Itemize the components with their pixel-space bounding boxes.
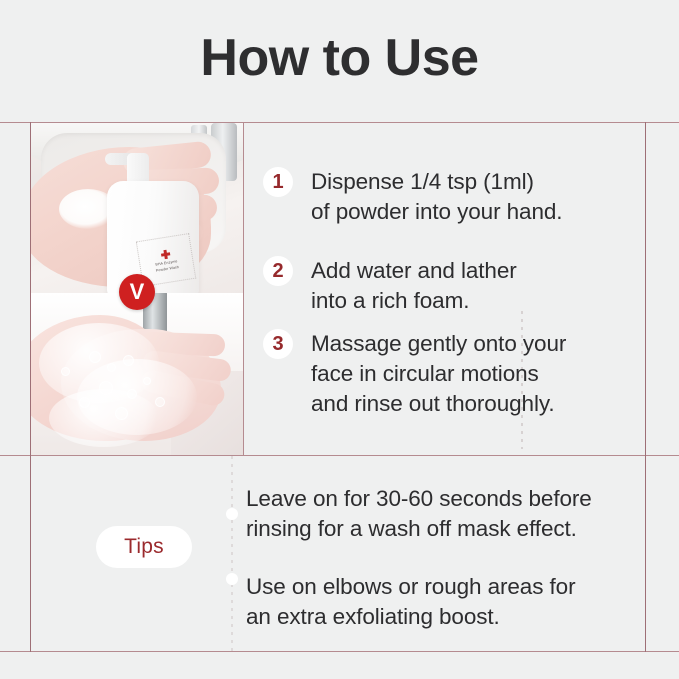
step-item-2: 2 Add water and lather into a rich foam.	[263, 256, 517, 316]
bubble-shape	[143, 377, 151, 385]
step-number-badge: 2	[263, 256, 293, 286]
foam-shape	[49, 389, 159, 447]
bubble-shape	[89, 351, 101, 363]
step-number-badge: 1	[263, 167, 293, 197]
page-title: How to Use	[200, 32, 478, 90]
bubble-shape	[61, 367, 70, 376]
step-item-1: 1 Dispense 1/4 tsp (1ml) of powder into …	[263, 167, 562, 227]
step-text: Add water and lather into a rich foam.	[311, 256, 517, 316]
bubble-shape	[79, 397, 90, 408]
bubble-shape	[115, 407, 128, 420]
tips-bullet-dot	[226, 573, 238, 585]
bubble-shape	[107, 363, 116, 372]
step-item-3: 3 Massage gently onto your face in circu…	[263, 329, 566, 419]
header: How to Use	[0, 0, 679, 122]
tip-item: Use on elbows or rough areas for an extr…	[246, 572, 646, 632]
tips-badge: Tips	[96, 526, 192, 568]
steps-panel: 1 Dispense 1/4 tsp (1ml) of powder into …	[244, 123, 645, 455]
photo-lathering-hands	[31, 293, 243, 455]
step-text: Dispense 1/4 tsp (1ml) of powder into yo…	[311, 167, 562, 227]
product-bottle-shape: BHA Enzyme Powder Wash	[107, 181, 199, 293]
tip-item: Leave on for 30-60 seconds before rinsin…	[246, 484, 646, 544]
bubble-shape	[127, 389, 137, 399]
bubble-shape	[123, 355, 134, 366]
tips-list: Leave on for 30-60 seconds before rinsin…	[246, 484, 646, 660]
product-label-line2: Powder Wash	[155, 265, 179, 273]
tips-bullet-dot	[226, 508, 238, 520]
bubble-shape	[99, 381, 113, 395]
bubble-shape	[155, 397, 165, 407]
tips-connector-dotted-line	[231, 456, 233, 651]
photo-dispensing-powder: BHA Enzyme Powder Wash	[31, 123, 243, 293]
tips-section: Tips Leave on for 30-60 seconds before r…	[31, 456, 645, 651]
step-text: Massage gently onto your face in circula…	[311, 329, 566, 419]
vegan-badge: V	[119, 274, 155, 310]
step-number-badge: 3	[263, 329, 293, 359]
red-cross-icon	[160, 249, 170, 259]
